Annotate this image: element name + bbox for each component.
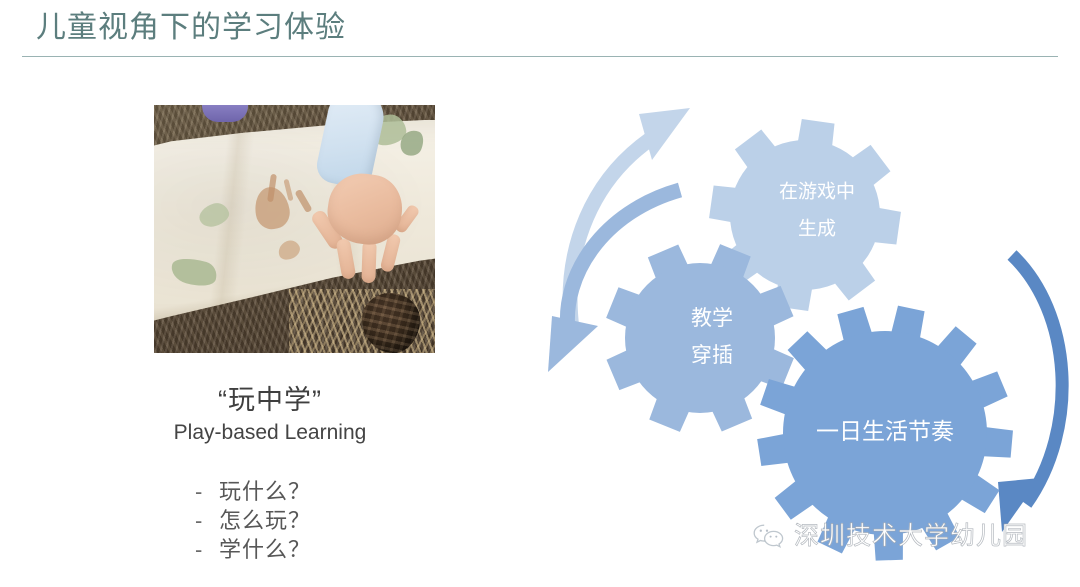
list-item: - 学什么？ xyxy=(195,535,345,564)
bullet-dash: - xyxy=(195,506,219,535)
photo-image xyxy=(154,105,435,353)
list-item-label: 怎么玩？ xyxy=(219,506,311,535)
list-item-label: 玩什么？ xyxy=(219,477,311,506)
gear-label-text: 教学 xyxy=(691,307,733,330)
gear-label-text: 一日生活节奏 xyxy=(816,418,954,444)
bullet-dash: - xyxy=(195,477,219,506)
caption-chinese: “玩中学” xyxy=(0,383,540,417)
arc-right-icon xyxy=(998,255,1062,532)
gear-cycle-diagram: 在游戏中生成教学穿插一日生活节奏 xyxy=(540,80,1080,587)
page-title: 儿童视角下的学习体验 xyxy=(36,8,346,48)
left-content-column: “玩中学” Play-based Learning - 玩什么？ - 怎么玩？ … xyxy=(0,90,540,587)
photo-finger xyxy=(361,241,376,283)
caption-english: Play-based Learning xyxy=(0,419,540,446)
question-list: - 玩什么？ - 怎么玩？ - 学什么？ xyxy=(0,477,540,564)
title-divider xyxy=(22,56,1058,57)
gear-label-text: 生成 xyxy=(798,218,836,240)
gear-label-text: 在游戏中 xyxy=(779,181,855,203)
list-item-label: 学什么？ xyxy=(219,535,311,564)
list-item: - 玩什么？ xyxy=(195,477,345,506)
gear-label-text: 穿插 xyxy=(691,344,733,367)
list-item: - 怎么玩？ xyxy=(195,506,345,535)
bullet-dash: - xyxy=(195,535,219,564)
